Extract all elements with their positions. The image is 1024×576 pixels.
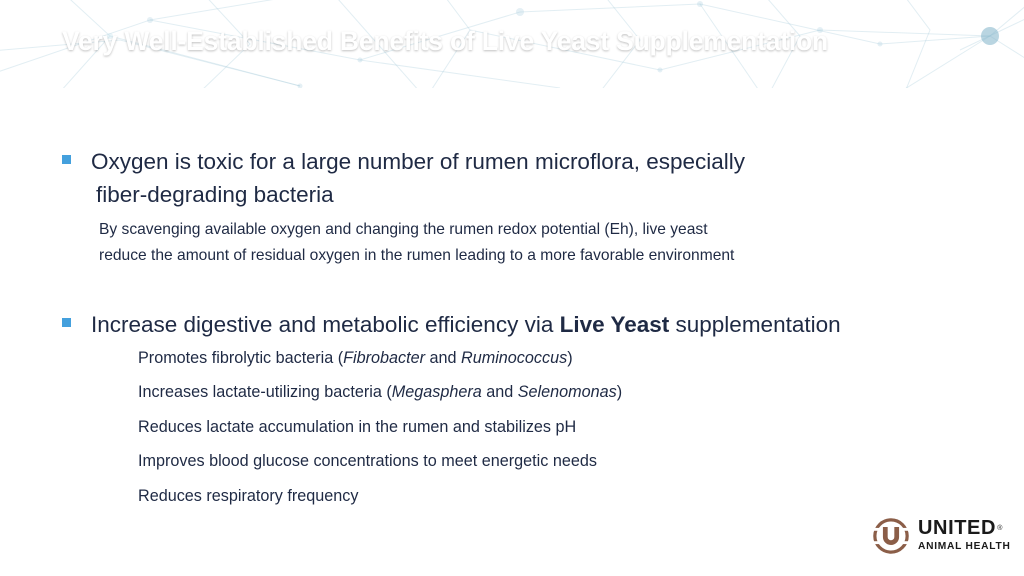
sub-item-1-part-1: Promotes fibrolytic bacteria ( — [138, 349, 343, 367]
logo-company-name: UNITED® — [918, 518, 996, 539]
bullet-2-text: Increase digestive and metabolic efficie… — [91, 308, 841, 341]
sub-item-1: Promotes fibrolytic bacteria (Fibrobacte… — [138, 347, 573, 369]
sub-item-2: Increases lactate-utilizing bacteria (Me… — [138, 381, 622, 403]
sub-item-5: Reduces respiratory frequency — [138, 485, 358, 507]
bullet-1-line-1: Oxygen is toxic for a large number of ru… — [91, 145, 745, 178]
sub-item-2-part-3: ) — [617, 383, 622, 401]
sub-item-2-species-2: Selenomonas — [518, 383, 617, 401]
sub-item-1-species-2: Ruminococcus — [461, 349, 567, 367]
sub-item-1-part-3: ) — [567, 349, 572, 367]
logo-tagline: ANIMAL HEALTH — [918, 540, 1011, 553]
logo-name-text: UNITED — [918, 517, 996, 539]
sub-item-2-species-1: Megasphera — [392, 383, 482, 401]
sub-item-3: Reduces lactate accumulation in the rume… — [138, 416, 576, 438]
square-bullet-icon — [62, 155, 71, 164]
square-bullet-icon — [62, 318, 71, 327]
sub-item-1-part-2: and — [425, 349, 461, 367]
bullet-item-1: Oxygen is toxic for a large number of ru… — [62, 145, 942, 211]
sub-item-1-species-1: Fibrobacter — [343, 349, 425, 367]
bullet-2-emphasis: Live Yeast — [560, 312, 670, 337]
logo-wordmark: UNITED® ANIMAL HEALTH — [918, 518, 1011, 553]
bullet-1-text: Oxygen is toxic for a large number of ru… — [91, 145, 745, 211]
page-title: Very Well-Established Benefits of Live Y… — [62, 26, 828, 57]
bullet-1-subtext-line-1: By scavenging available oxygen and chang… — [99, 217, 708, 242]
header-banner: Very Well-Established Benefits of Live Y… — [0, 0, 1024, 88]
bullet-2-text-after: supplementation — [669, 312, 840, 337]
bullet-2-text-before: Increase digestive and metabolic efficie… — [91, 312, 560, 337]
bullet-1-subtext-line-2: reduce the amount of residual oxygen in … — [99, 243, 734, 268]
slide-content: Oxygen is toxic for a large number of ru… — [0, 88, 1024, 576]
bullet-1-line-2: fiber-degrading bacteria — [96, 178, 745, 211]
sub-item-2-part-1: Increases lactate-utilizing bacteria ( — [138, 383, 392, 401]
company-logo: UNITED® ANIMAL HEALTH — [872, 513, 1012, 559]
sub-item-2-part-2: and — [482, 383, 518, 401]
bullet-item-2: Increase digestive and metabolic efficie… — [62, 308, 962, 341]
sub-item-4: Improves blood glucose concentrations to… — [138, 450, 597, 472]
united-animal-health-mark-icon — [872, 517, 910, 555]
registered-trademark-icon: ® — [997, 518, 1003, 539]
